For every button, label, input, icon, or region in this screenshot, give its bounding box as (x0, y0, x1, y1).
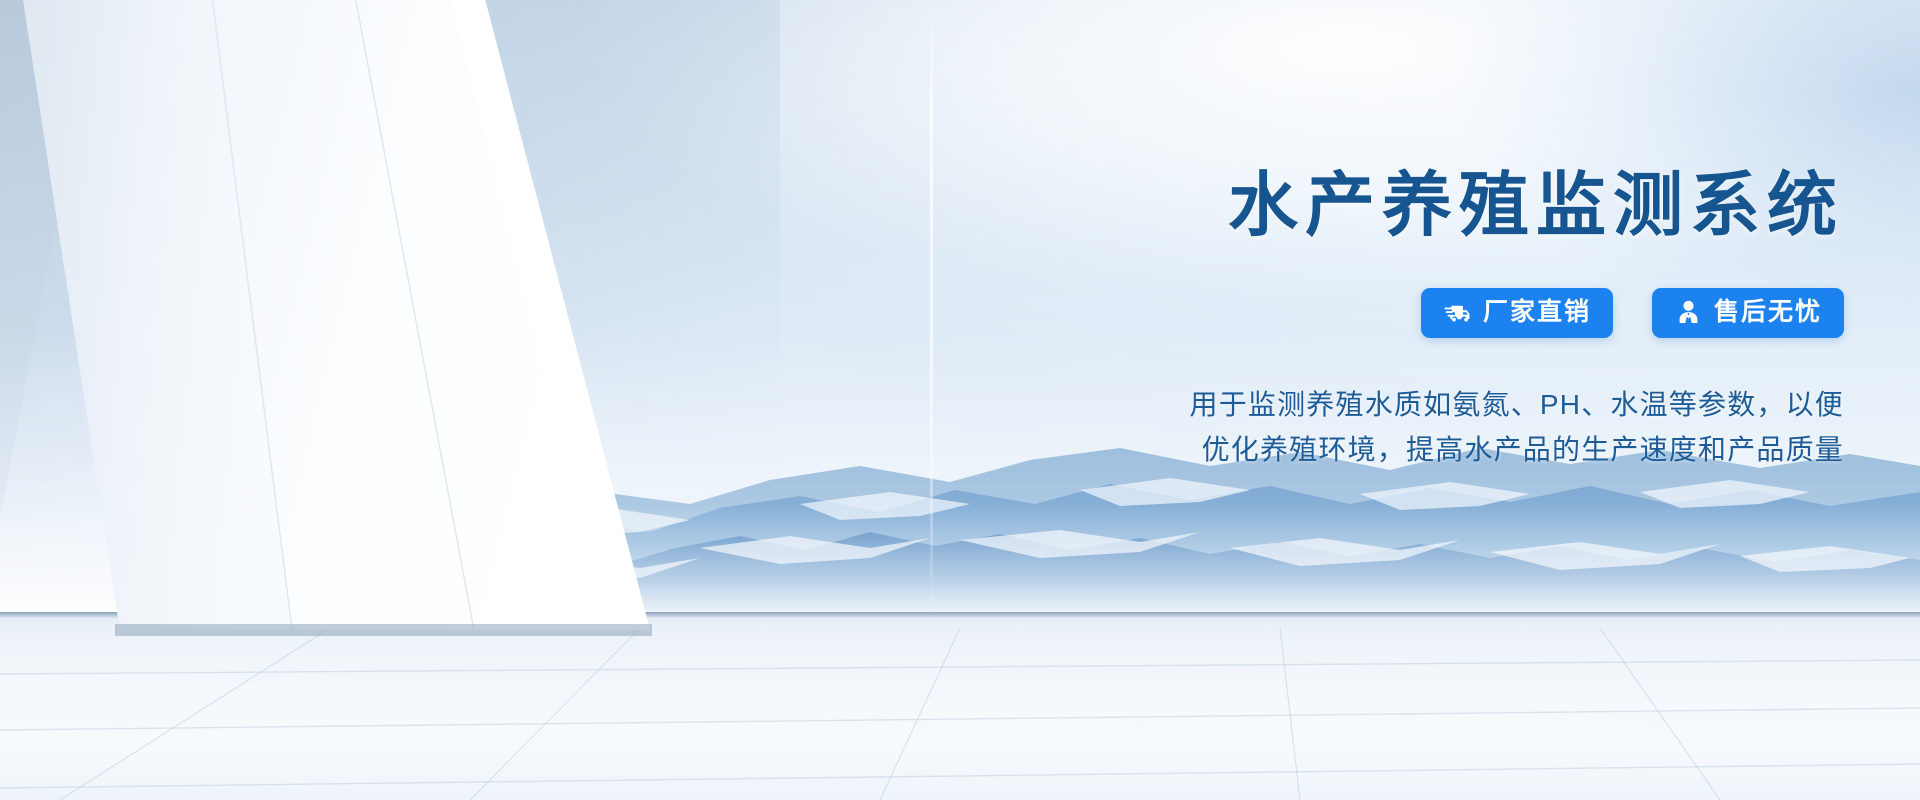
delivery-truck-icon (1443, 298, 1472, 327)
white-architectural-wedge (0, 0, 720, 730)
page-title: 水产养殖监测系统 (944, 168, 1844, 244)
feature-badge-group: 厂家直销 售后无忧 (944, 288, 1844, 338)
description-line-2: 优化养殖环境，提高水产品的生产速度和产品质量 (944, 427, 1844, 472)
customer-service-person-icon (1674, 298, 1703, 327)
description-line-1: 用于监测养殖水质如氨氮、PH、水温等参数，以便 (944, 382, 1844, 427)
badge-label: 售后无忧 (1714, 300, 1822, 325)
glass-panel-seam (930, 0, 933, 620)
hero-banner: 水产养殖监测系统 厂家直销 (0, 0, 1920, 800)
banner-description: 用于监测养殖水质如氨氮、PH、水温等参数，以便 优化养殖环境，提高水产品的生产速… (944, 382, 1844, 473)
badge-factory-direct[interactable]: 厂家直销 (1421, 288, 1613, 338)
badge-after-sales[interactable]: 售后无忧 (1652, 288, 1844, 338)
banner-content: 水产养殖监测系统 厂家直销 (944, 168, 1844, 472)
badge-label: 厂家直销 (1483, 300, 1591, 325)
